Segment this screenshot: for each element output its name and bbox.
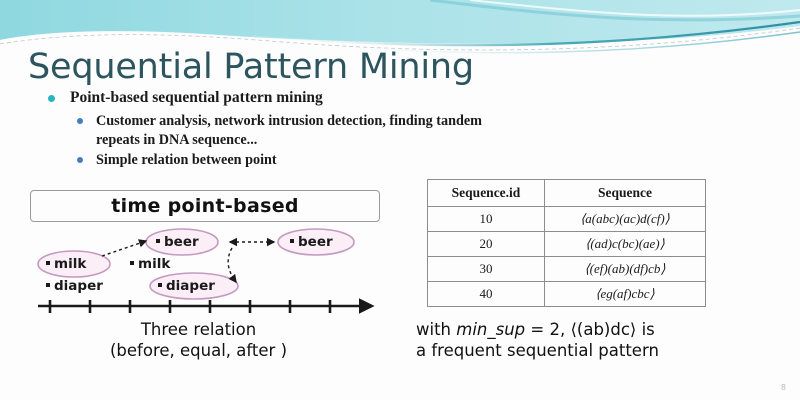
diagram-node-diaper-1: diaper bbox=[46, 278, 103, 294]
caption-left-line1: Three relation bbox=[110, 320, 287, 341]
bullet-level1-label: Point-based sequential pattern mining bbox=[70, 89, 323, 106]
cell-sequence-id: 30 bbox=[428, 257, 545, 282]
time-point-based-box: time point-based bbox=[30, 190, 380, 222]
table-row: 40 ⟨eg(af)cbc⟩ bbox=[428, 282, 706, 307]
diagram-node-beer-1: beer bbox=[156, 234, 199, 250]
bullet-square-icon bbox=[130, 261, 134, 265]
caption-right: with min_sup = 2, ⟨(ab)dc⟩ is a frequent… bbox=[416, 320, 659, 361]
caption-left-line2: (before, equal, after ) bbox=[110, 341, 287, 362]
bullet-dot-icon bbox=[77, 157, 83, 163]
table-row: 10 ⟨a(abc)(ac)d(cf)⟩ bbox=[428, 207, 706, 232]
cell-sequence: ⟨a(abc)(ac)d(cf)⟩ bbox=[545, 207, 706, 232]
bullet-level2-group: Customer analysis, network intrusion det… bbox=[44, 112, 764, 170]
caption-right-prefix: with bbox=[416, 320, 456, 339]
bullet-dot-icon bbox=[77, 118, 83, 124]
diagram-node-label: diaper bbox=[54, 278, 103, 294]
diagram-node-milk-1: milk bbox=[46, 256, 86, 272]
header-swoosh-line-3 bbox=[430, 0, 800, 20]
header-swoosh-line-4 bbox=[470, 0, 800, 16]
diagram-node-label: milk bbox=[138, 256, 170, 272]
arrow-beer-to-diaper bbox=[228, 248, 236, 282]
slide: Sequential Pattern Mining Point-based se… bbox=[0, 0, 800, 400]
diagram-node-label: beer bbox=[298, 234, 333, 250]
bullet-level2-line1: Customer analysis, network intrusion det… bbox=[96, 113, 482, 129]
cell-sequence-id: 20 bbox=[428, 232, 545, 257]
diagram-node-milk-2: milk bbox=[130, 256, 170, 272]
diagram-node-label: diaper bbox=[166, 278, 215, 294]
bullet-level1: Point-based sequential pattern mining bbox=[44, 88, 764, 109]
page-number: 8 bbox=[781, 383, 786, 392]
diagram-node-label: beer bbox=[164, 234, 199, 250]
table-header-row: Sequence.id Sequence bbox=[428, 180, 706, 207]
diagram-node-beer-2: beer bbox=[290, 234, 333, 250]
bullet-square-icon bbox=[290, 239, 294, 243]
diagram-node-diaper-2: diaper bbox=[158, 278, 215, 294]
cell-sequence-id: 40 bbox=[428, 282, 545, 307]
caption-right-mid: = 2, ⟨(ab)dc⟩ is bbox=[525, 320, 655, 339]
bullet-square-icon bbox=[46, 283, 50, 287]
caption-left: Three relation (before, equal, after ) bbox=[110, 320, 287, 361]
cell-sequence-id: 10 bbox=[428, 207, 545, 232]
timeline-diagram: milk beer beer milk diaper diaper bbox=[24, 224, 414, 314]
bullet-square-icon bbox=[156, 239, 160, 243]
cell-sequence: ⟨(ef)(ab)(df)cb⟩ bbox=[545, 257, 706, 282]
table-header-sequence: Sequence bbox=[545, 180, 706, 207]
header-swoosh-line-1 bbox=[250, 22, 800, 45]
table-header-sequence-id: Sequence.id bbox=[428, 180, 545, 207]
caption-right-italic: min_sup bbox=[456, 320, 525, 339]
bullet-level2-item: Simple relation between point bbox=[74, 151, 764, 170]
bullet-dot-icon bbox=[48, 95, 55, 102]
bullet-square-icon bbox=[158, 283, 162, 287]
bullet-square-icon bbox=[46, 261, 50, 265]
bullet-level2-line2: repeats in DNA sequence... bbox=[96, 132, 257, 148]
bullet-level2-line1: Simple relation between point bbox=[96, 152, 277, 168]
arrow-milk-to-beer bbox=[102, 241, 146, 256]
cell-sequence: ⟨eg(af)cbc⟩ bbox=[545, 282, 706, 307]
table-row: 30 ⟨(ef)(ab)(df)cb⟩ bbox=[428, 257, 706, 282]
header-band bbox=[0, 0, 800, 44]
caption-right-line1: with min_sup = 2, ⟨(ab)dc⟩ is bbox=[416, 320, 659, 341]
bullet-list: Point-based sequential pattern mining Cu… bbox=[44, 88, 764, 172]
table-row: 20 ⟨(ad)c(bc)(ae)⟩ bbox=[428, 232, 706, 257]
diagram-node-label: milk bbox=[54, 256, 86, 272]
sequence-table: Sequence.id Sequence 10 ⟨a(abc)(ac)d(cf)… bbox=[427, 179, 706, 307]
page-title: Sequential Pattern Mining bbox=[28, 47, 474, 87]
time-point-based-label: time point-based bbox=[111, 195, 299, 217]
caption-right-line2: a frequent sequential pattern bbox=[416, 341, 659, 362]
bullet-level2-item: Customer analysis, network intrusion det… bbox=[74, 112, 764, 149]
cell-sequence: ⟨(ad)c(bc)(ae)⟩ bbox=[545, 232, 706, 257]
